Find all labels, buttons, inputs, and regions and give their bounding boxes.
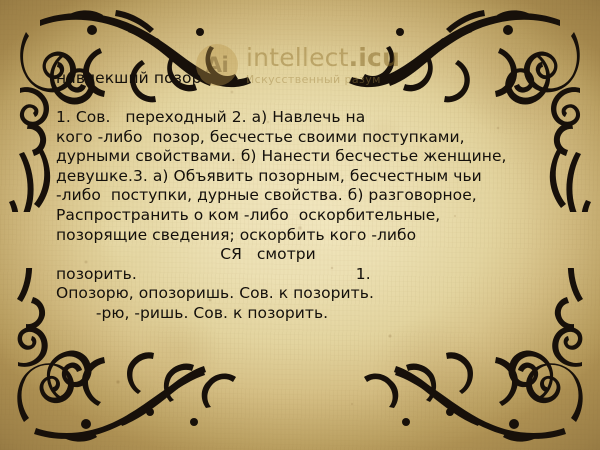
- definition-line: кого -либо позор, бесчестье своими посту…: [56, 128, 566, 148]
- definition-line: Распространить о ком -либо оскорбительны…: [56, 206, 566, 226]
- definition-body: 1. Сов. переходный 2. а) Навлечь накого …: [56, 108, 566, 324]
- definition-line: позорить. 1.: [56, 265, 566, 285]
- definition-line: -рю, -ришь. Сов. к позорить.: [56, 304, 566, 324]
- definition-line: девушке.3. а) Объявить позорным, бесчест…: [56, 167, 566, 187]
- definition-line: позорящие сведения; оскорбить кого -либо: [56, 226, 566, 246]
- card-content: навлекший позор 1. Сов. переходный 2. а)…: [0, 0, 600, 450]
- definition-line: СЯ смотри: [56, 245, 566, 265]
- definition-line: 1. Сов. переходный 2. а) Навлечь на: [56, 108, 566, 128]
- definition-line: дурными свойствами. б) Нанести бесчестье…: [56, 147, 566, 167]
- definition-line: Опозорю, опозоришь. Сов. к позорить.: [56, 284, 566, 304]
- headword: навлекший позор: [56, 69, 202, 87]
- definition-line: -либо поступки, дурные свойства. б) разг…: [56, 186, 566, 206]
- dictionary-card-page: Ai intellect.icu Искусственный разум нав…: [0, 0, 600, 450]
